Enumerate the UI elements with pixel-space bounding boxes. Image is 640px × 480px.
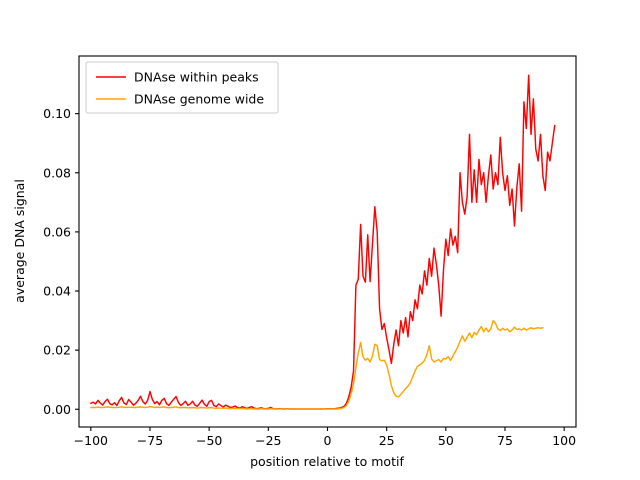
y-tick-label: 0.00	[43, 402, 71, 417]
x-axis-title: position relative to motif	[250, 454, 404, 469]
chart-plot: −100−75−50−2502550751000.000.020.040.060…	[0, 0, 640, 480]
series-lines	[91, 75, 555, 409]
y-tick-label: 0.10	[43, 106, 71, 121]
x-tick-label: 25	[379, 433, 395, 448]
series-line-dnase-within-peaks	[91, 75, 555, 409]
x-tick-label: 75	[497, 433, 513, 448]
y-tick-label: 0.08	[43, 165, 71, 180]
legend-label-2: DNAse genome wide	[134, 92, 264, 107]
x-tick-label: −50	[196, 433, 222, 448]
series-line-dnase-genome-wide	[91, 321, 543, 409]
x-tick-label: −100	[74, 433, 108, 448]
x-tick-label: −75	[137, 433, 163, 448]
y-tick-label: 0.06	[43, 224, 71, 239]
x-tick-label: 100	[552, 433, 576, 448]
axis-tick-labels: −100−75−50−2502550751000.000.020.040.060…	[43, 106, 576, 448]
figure-canvas: −100−75−50−2502550751000.000.020.040.060…	[0, 0, 640, 480]
y-tick-label: 0.04	[43, 284, 71, 299]
legend-label-1: DNAse within peaks	[134, 70, 259, 85]
y-axis-title: average DNA signal	[12, 179, 27, 303]
x-tick-label: 0	[324, 433, 332, 448]
x-tick-label: −25	[255, 433, 281, 448]
x-tick-label: 50	[438, 433, 454, 448]
y-tick-label: 0.02	[43, 343, 71, 358]
chart-legend[interactable]: DNAse within peaksDNAse genome wide	[86, 62, 278, 113]
